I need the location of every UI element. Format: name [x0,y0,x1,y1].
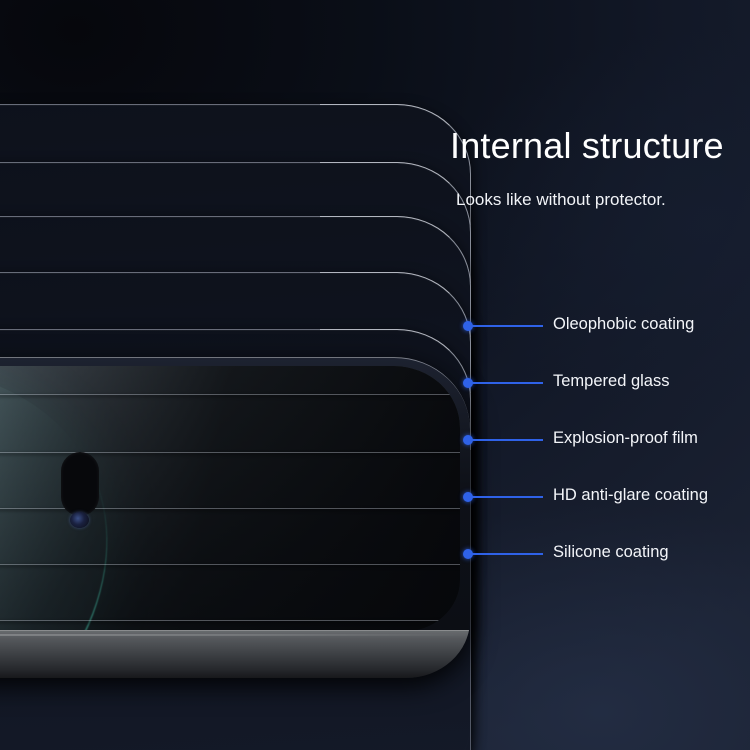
front-camera-lens-icon [70,512,89,528]
layer-edge-line [0,564,460,565]
phone-bottom-rail [0,630,470,678]
callout-leader-line [471,382,543,384]
page-subtitle: Looks like without protector. [456,190,666,210]
callout-label: Explosion-proof film [553,429,698,448]
callout-label: HD anti-glare coating [553,486,708,505]
page-title: Internal structure [450,125,724,167]
callout-leader-line [471,325,543,327]
callout-label: Silicone coating [553,543,669,562]
phone-device [0,357,470,678]
layer-edge-line [0,620,460,621]
phone-screen [0,366,460,632]
callout-leader-line [471,439,543,441]
callout-leader-line [471,496,543,498]
rail-highlight [0,634,470,636]
callout-leader-line [471,553,543,555]
dynamic-island [61,452,99,516]
product-infographic: Internal structure Looks like without pr… [0,0,750,750]
callout-label: Oleophobic coating [553,315,694,334]
layer-edge-line [0,452,460,453]
layer-edge-line [0,394,460,395]
callout-label: Tempered glass [553,372,669,391]
